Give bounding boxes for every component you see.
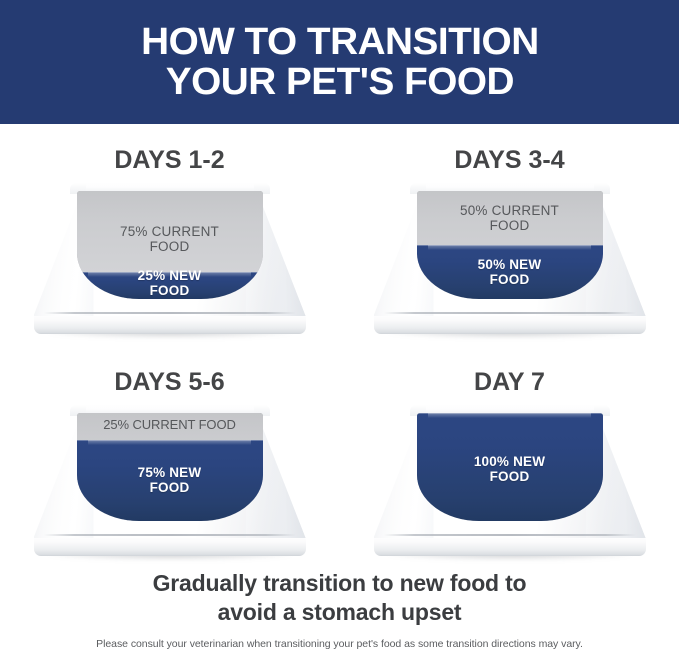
bowl-cavity: 50% CURRENT FOOD 50% NEW FOOD xyxy=(417,191,603,299)
bowl-cavity: 75% CURRENT FOOD 25% NEW FOOD xyxy=(77,191,263,299)
bowl-base xyxy=(34,535,306,556)
bowl-base xyxy=(374,313,646,334)
steps-grid: DAYS 1-2 75% CURRENT FOOD 25% NEW FOOD xyxy=(0,124,679,567)
food-bowl: 25% CURRENT FOOD 75% NEW FOOD xyxy=(34,404,306,556)
step-title: DAY 7 xyxy=(340,368,679,397)
bowl-base-seam xyxy=(384,312,636,314)
current-food-label: 50% CURRENT FOOD xyxy=(417,203,603,234)
bowl-base-seam xyxy=(384,534,636,536)
food-bowl: 75% CURRENT FOOD 25% NEW FOOD xyxy=(34,182,306,334)
bowl-cavity: 100% NEW FOOD xyxy=(417,413,603,521)
tagline: Gradually transition to new food to avoi… xyxy=(0,569,679,627)
header-banner: HOW TO TRANSITION YOUR PET'S FOOD xyxy=(0,0,679,124)
current-food-label: 75% CURRENT FOOD xyxy=(77,224,263,255)
disclaimer: Please consult your veterinarian when tr… xyxy=(0,638,679,650)
bowl-base-seam xyxy=(44,534,296,536)
infographic-page: HOW TO TRANSITION YOUR PET'S FOOD DAYS 1… xyxy=(0,0,679,661)
step-panel-days-5-6: DAYS 5-6 25% CURRENT FOOD 75% NEW FOOD xyxy=(0,346,339,567)
step-title: DAYS 5-6 xyxy=(0,368,339,397)
current-food-label: 25% CURRENT FOOD xyxy=(77,418,263,433)
page-title: HOW TO TRANSITION YOUR PET'S FOOD xyxy=(131,22,549,103)
step-title: DAYS 1-2 xyxy=(0,146,339,175)
new-food-label: 25% NEW FOOD xyxy=(77,268,263,299)
step-panel-days-3-4: DAYS 3-4 50% CURRENT FOOD 50% NEW FOOD xyxy=(340,124,679,345)
bowl-cavity: 25% CURRENT FOOD 75% NEW FOOD xyxy=(77,413,263,521)
step-panel-days-1-2: DAYS 1-2 75% CURRENT FOOD 25% NEW FOOD xyxy=(0,124,339,345)
food-bowl: 100% NEW FOOD xyxy=(374,404,646,556)
step-title: DAYS 3-4 xyxy=(340,146,679,175)
bowl-base xyxy=(374,535,646,556)
new-food-label: 100% NEW FOOD xyxy=(417,454,603,485)
food-bowl: 50% CURRENT FOOD 50% NEW FOOD xyxy=(374,182,646,334)
bowl-base xyxy=(34,313,306,334)
new-food-label: 50% NEW FOOD xyxy=(417,257,603,288)
new-food-label: 75% NEW FOOD xyxy=(77,465,263,496)
bowl-base-seam xyxy=(44,312,296,314)
step-panel-day-7: DAY 7 100% NEW FOOD xyxy=(340,346,679,567)
